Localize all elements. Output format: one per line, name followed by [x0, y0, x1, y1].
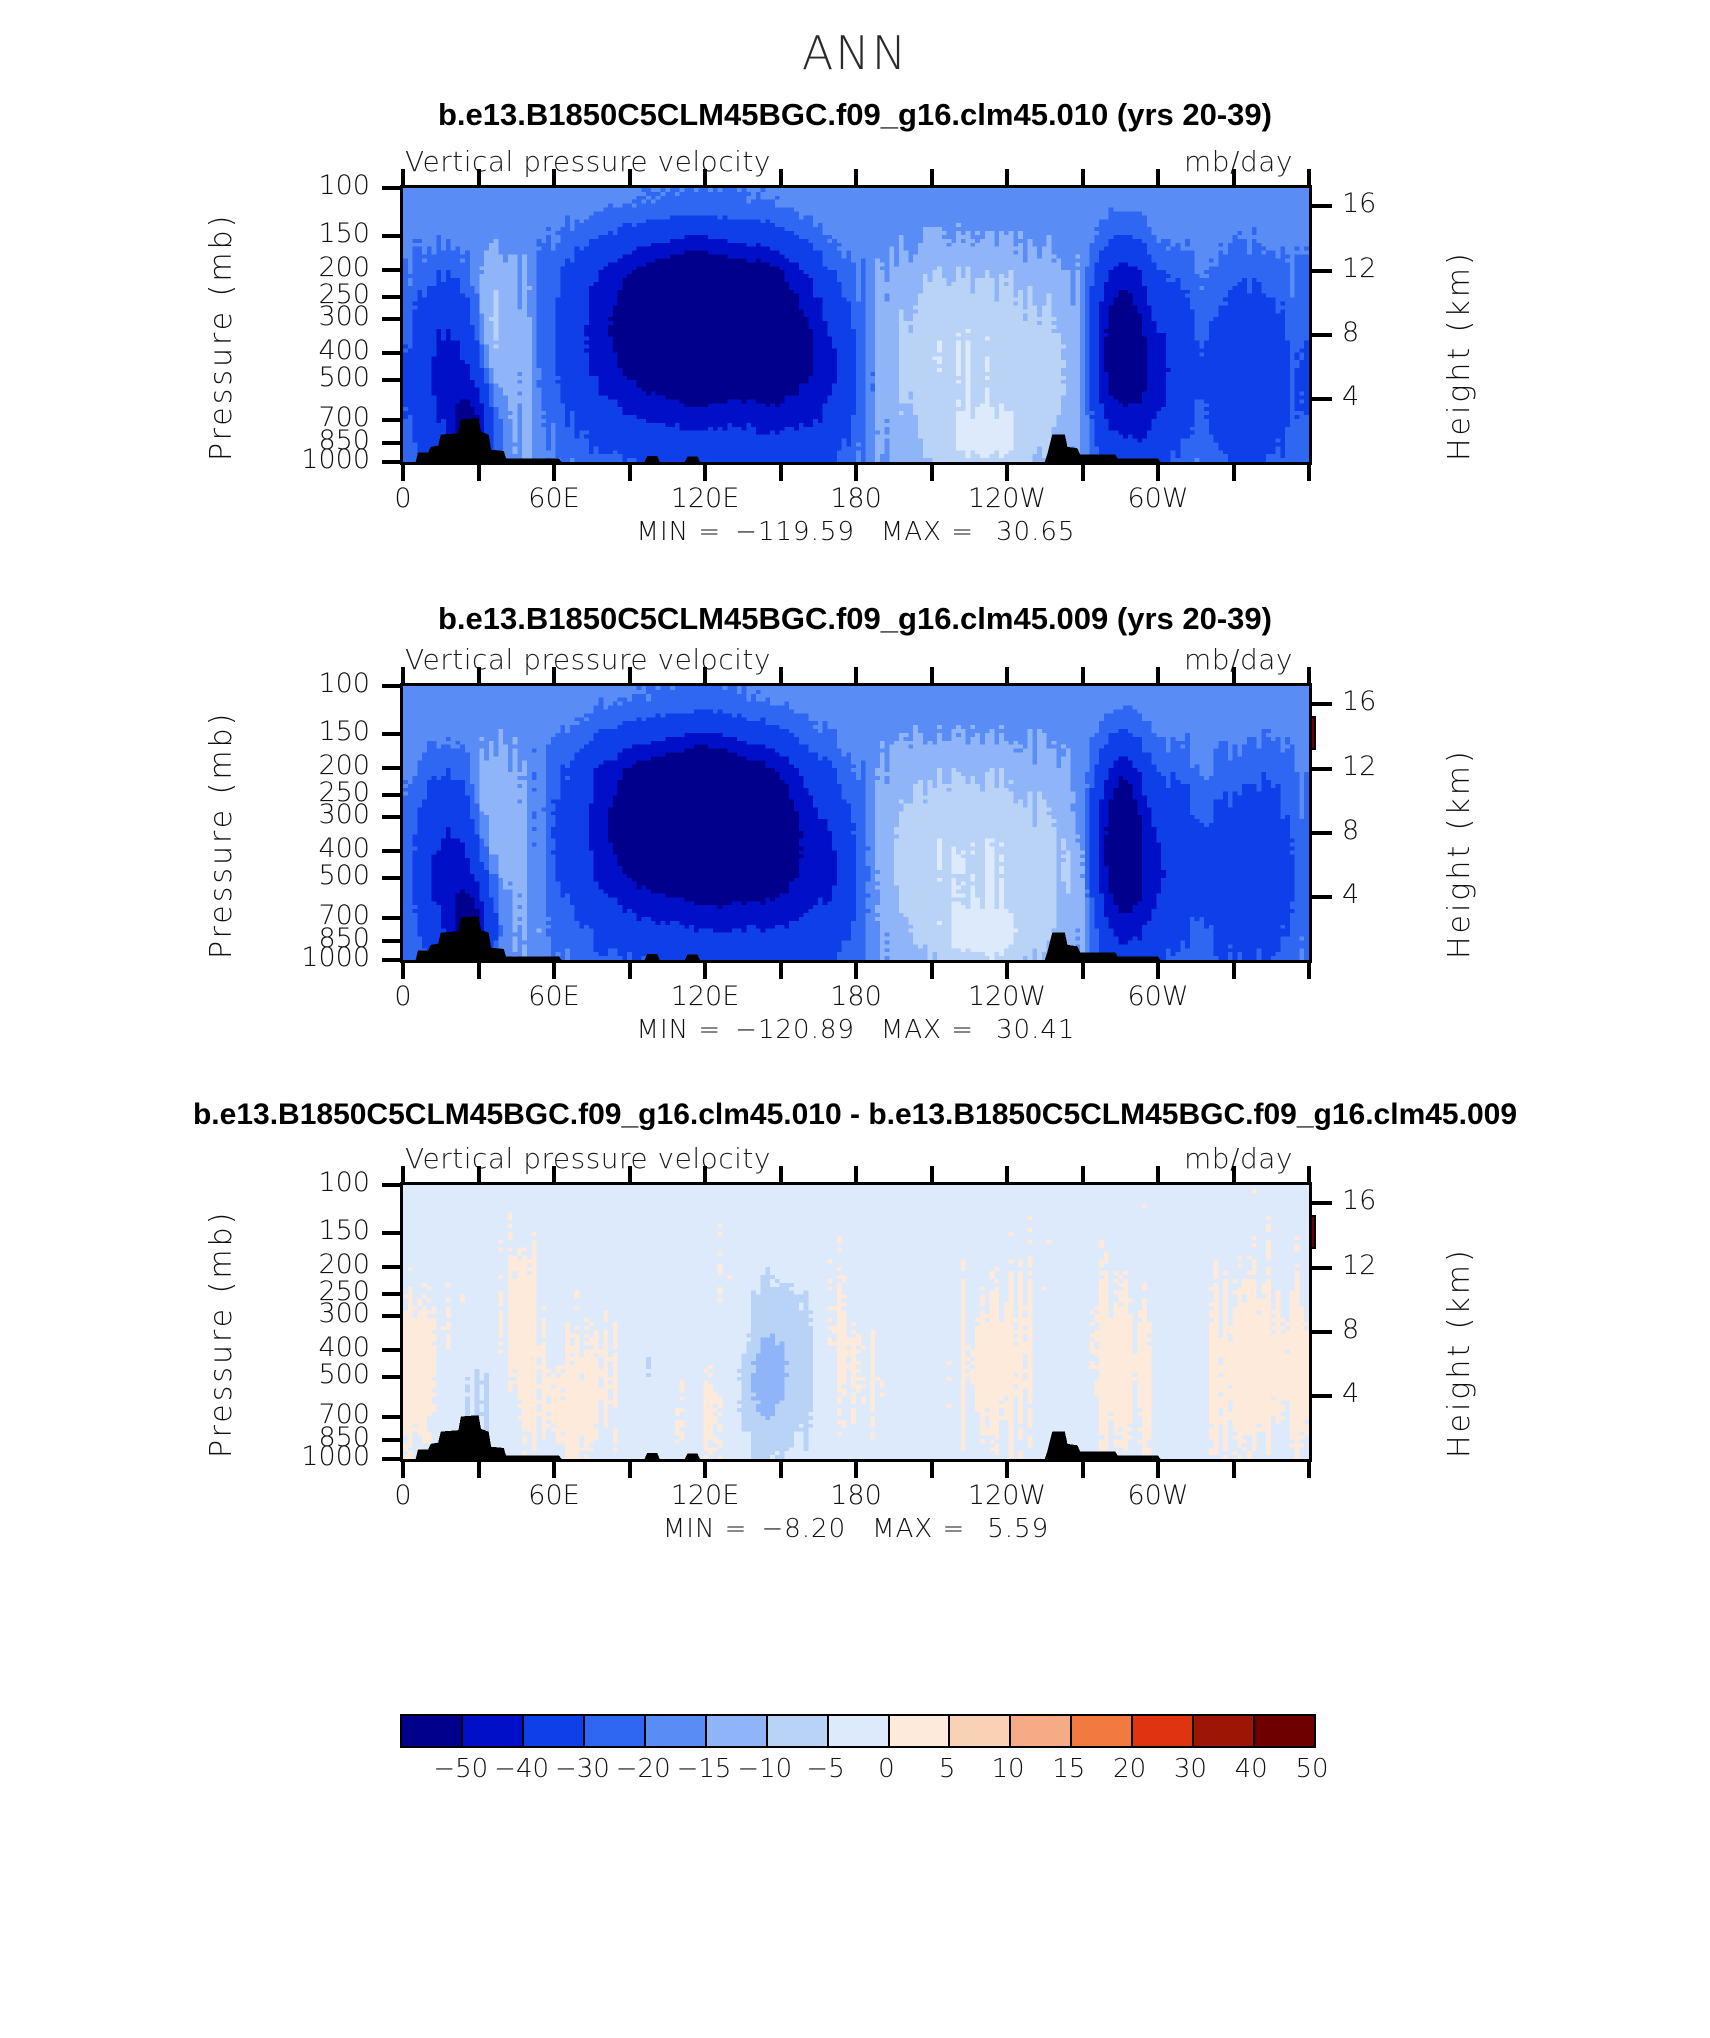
min-label: MIN =	[637, 517, 722, 547]
panel-2-pressure-tick	[382, 876, 400, 880]
panel-3-pressure-tick-label: 500	[240, 1359, 370, 1390]
panel-2-title: b.e13.B1850C5CLM45BGC.f09_g16.clm45.009 …	[0, 601, 1710, 637]
panel-2-height-tick	[1312, 831, 1332, 835]
panel-3-pressure-tick	[382, 1292, 400, 1296]
colorbar-segment	[1011, 1716, 1072, 1746]
panel-2-longitude-tick	[854, 963, 858, 979]
panel-3-longitude-tick	[779, 1462, 783, 1478]
panel-2-longitude-tick	[552, 963, 556, 979]
colorbar-segment	[463, 1716, 524, 1746]
panel-1-longitude-tick	[552, 465, 556, 481]
panel-2-longitude-tick	[854, 667, 858, 683]
panel-2-pressure-tick-label: 150	[240, 716, 370, 747]
panel-2-pressure-tick	[382, 766, 400, 770]
panel-1-pressure-tick	[382, 295, 400, 299]
panel-1-longitude-tick	[477, 465, 481, 481]
colorbar-tick-label: 50	[1242, 1754, 1382, 1784]
panel-3-title: b.e13.B1850C5CLM45BGC.f09_g16.clm45.010 …	[0, 1098, 1710, 1132]
panel-2-longitude-tick	[1232, 667, 1236, 683]
panel-1-height-tick	[1312, 269, 1332, 273]
panel-2-pressure-axis-title: Pressure (mb)	[204, 711, 239, 959]
panel-3-longitude-tick	[1307, 1462, 1311, 1478]
panel-1-longitude-tick	[779, 465, 783, 481]
panel-3-longitude-tick	[703, 1462, 707, 1478]
panel-1-pressure-tick	[382, 234, 400, 238]
colorbar-segment	[524, 1716, 585, 1746]
panel-2-longitude-tick	[703, 963, 707, 979]
panel-3-height-tick-label: 16	[1342, 1185, 1422, 1216]
panel-3-height-tick	[1312, 1201, 1332, 1205]
panel-2-height-tick-label: 12	[1342, 751, 1422, 782]
panel-3-pressure-tick	[382, 1348, 400, 1352]
panel-3-pressure-tick-label: 1000	[240, 1441, 370, 1472]
colorbar-segment	[1194, 1716, 1255, 1746]
colorbar-segment	[1133, 1716, 1194, 1746]
panel-3-longitude-tick-label: 60E	[479, 1480, 629, 1511]
panel-2-height-tick	[1312, 767, 1332, 771]
panel-1-longitude-tick-label: 0	[328, 483, 478, 514]
max-value: 30.65	[996, 517, 1075, 547]
panel-3-longitude-tick	[930, 1166, 934, 1182]
panel-2-longitude-tick-label: 120E	[630, 981, 780, 1012]
panel-1-height-tick-label: 16	[1342, 188, 1422, 219]
panel-1-longitude-tick	[1005, 169, 1009, 185]
panel-2-longitude-tick	[779, 963, 783, 979]
colorbar-segment	[1255, 1716, 1314, 1746]
panel-3-longitude-tick	[401, 1166, 405, 1182]
panel-3-pressure-tick	[382, 1314, 400, 1318]
panel-2-pressure-tick-label: 100	[240, 668, 370, 699]
panel-1-longitude-tick	[703, 169, 707, 185]
panel-1-longitude-tick	[401, 169, 405, 185]
panel-1-longitude-tick	[1156, 169, 1160, 185]
panel-3-longitude-tick-label: 0	[328, 1480, 478, 1511]
panel-2-longitude-tick	[1156, 667, 1160, 683]
panel-3-height-axis-title: Height (km)	[1442, 1247, 1477, 1458]
panel-3-longitude-tick	[779, 1166, 783, 1182]
max-value: 5.59	[987, 1514, 1049, 1544]
panel-1-pressure-tick	[382, 186, 400, 190]
panel-1-longitude-tick	[930, 169, 934, 185]
panel-1-unit-label: mb/day	[1184, 145, 1293, 178]
panel-2-longitude-tick	[1156, 963, 1160, 979]
panel-2-variable-label: Vertical pressure velocity	[405, 643, 771, 676]
colorbar-segment	[890, 1716, 951, 1746]
panel-1-pressure-tick-label: 100	[240, 170, 370, 201]
panel-1-height-tick-label: 4	[1342, 381, 1422, 412]
panel-3-pressure-tick	[382, 1415, 400, 1419]
panel-2-pressure-tick	[382, 849, 400, 853]
panel-1-height-axis-title: Height (km)	[1442, 250, 1477, 461]
panel-3-longitude-tick	[1005, 1166, 1009, 1182]
panel-1-pressure-axis-title: Pressure (mb)	[204, 213, 239, 461]
panel-1-pressure-tick	[382, 418, 400, 422]
panel-1-longitude-tick-label: 60W	[1083, 483, 1233, 514]
panel-2-longitude-tick	[1081, 667, 1085, 683]
panel-3-longitude-tick	[930, 1462, 934, 1478]
panel-1-longitude-tick	[854, 169, 858, 185]
panel-3-pressure-tick	[382, 1265, 400, 1269]
panel-2-height-tick-label: 4	[1342, 879, 1422, 910]
panel-2-longitude-tick	[477, 667, 481, 683]
panel-1-longitude-tick	[628, 465, 632, 481]
panel-3-plot-area	[400, 1182, 1312, 1462]
panel-2-longitude-tick	[1005, 963, 1009, 979]
panel-2-longitude-tick-label: 60W	[1083, 981, 1233, 1012]
panel-2-longitude-tick	[628, 667, 632, 683]
panel-3-longitude-tick	[1156, 1166, 1160, 1182]
panel-2-unit-label: mb/day	[1184, 643, 1293, 676]
panel-1-pressure-tick	[382, 378, 400, 382]
panel-2-pressure-tick-label: 1000	[240, 942, 370, 973]
panel-2-pressure-tick	[382, 732, 400, 736]
colorbar-segment	[402, 1716, 463, 1746]
max-label: MAX =	[872, 1514, 965, 1544]
panel-2-longitude-tick	[1005, 667, 1009, 683]
panel-1-longitude-tick-label: 120W	[932, 483, 1082, 514]
panel-1-height-tick-label: 12	[1342, 253, 1422, 284]
panel-3-longitude-tick	[703, 1166, 707, 1182]
panel-1-longitude-tick	[1081, 169, 1085, 185]
panel-3-height-tick-label: 12	[1342, 1250, 1422, 1281]
min-value: −8.20	[761, 1514, 846, 1544]
panel-3-pressure-tick-label: 100	[240, 1167, 370, 1198]
panel-3-longitude-tick-label: 180	[781, 1480, 931, 1511]
panel-1-longitude-tick	[401, 465, 405, 481]
panel-3-pressure-axis-title: Pressure (mb)	[204, 1210, 239, 1458]
panel-1-pressure-tick-label: 1000	[240, 444, 370, 475]
panel-1-height-tick-label: 8	[1342, 317, 1422, 348]
panel-3-longitude-tick	[552, 1462, 556, 1478]
panel-3-colorbar[interactable]	[400, 1714, 1316, 1748]
panel-2-pressure-tick	[382, 815, 400, 819]
panel-2-longitude-tick-label: 180	[781, 981, 931, 1012]
panel-3-height-tick-label: 8	[1342, 1314, 1422, 1345]
panel-3-longitude-tick	[628, 1462, 632, 1478]
panel-1-height-tick	[1312, 397, 1332, 401]
panel-2-longitude-tick	[552, 667, 556, 683]
panel-2-longitude-tick-label: 120W	[932, 981, 1082, 1012]
panel-1-height-tick	[1312, 204, 1332, 208]
panel-2-longitude-tick	[628, 963, 632, 979]
panel-2-height-tick	[1312, 895, 1332, 899]
panel-1-longitude-tick	[1005, 465, 1009, 481]
panel-2-pressure-tick	[382, 939, 400, 943]
panel-3-pressure-tick-label: 300	[240, 1298, 370, 1329]
panel-3-unit-label: mb/day	[1184, 1142, 1293, 1175]
panel-3-pressure-tick-label: 150	[240, 1215, 370, 1246]
panel-2-longitude-tick	[1307, 667, 1311, 683]
colorbar-segment	[646, 1716, 707, 1746]
panel-1-longitude-tick	[1232, 169, 1236, 185]
panel-2-longitude-tick	[703, 667, 707, 683]
panel-2-longitude-tick	[401, 667, 405, 683]
colorbar-segment	[707, 1716, 768, 1746]
panel-2-height-tick	[1312, 702, 1332, 706]
panel-2-pressure-tick	[382, 684, 400, 688]
panel-2-pressure-tick-label: 300	[240, 799, 370, 830]
panel-2-longitude-tick	[1081, 963, 1085, 979]
panel-3-longitude-tick-label: 120W	[932, 1480, 1082, 1511]
figure-super-title: ANN	[0, 26, 1710, 80]
panel-2-longitude-tick	[779, 667, 783, 683]
panel-3-pressure-tick	[382, 1457, 400, 1461]
colorbar-segment	[1072, 1716, 1133, 1746]
panel-3-longitude-tick-label: 120E	[630, 1480, 780, 1511]
colorbar-segment	[829, 1716, 890, 1746]
panel-1-longitude-tick	[552, 169, 556, 185]
panel-2-longitude-tick-label: 60E	[479, 981, 629, 1012]
panel-1-plot-area	[400, 185, 1312, 465]
panel-3-longitude-tick	[1156, 1462, 1160, 1478]
panel-2-height-tick-label: 8	[1342, 815, 1422, 846]
panel-3-longitude-tick	[1307, 1166, 1311, 1182]
panel-3-height-tick	[1312, 1394, 1332, 1398]
max-label: MAX =	[881, 517, 974, 547]
panel-2-plot-area	[400, 683, 1312, 963]
panel-3-longitude-tick	[1005, 1462, 1009, 1478]
panel-2-height-axis-title: Height (km)	[1442, 748, 1477, 959]
panel-1-longitude-tick	[1232, 465, 1236, 481]
panel-2-pressure-tick	[382, 916, 400, 920]
min-label: MIN =	[637, 1015, 722, 1045]
panel-1-pressure-tick-label: 150	[240, 218, 370, 249]
panel-2-longitude-tick	[1232, 963, 1236, 979]
panel-3-height-tick	[1312, 1330, 1332, 1334]
panel-1-longitude-tick	[703, 465, 707, 481]
panel-3-pressure-tick	[382, 1183, 400, 1187]
max-label: MAX =	[881, 1015, 974, 1045]
panel-1-pressure-tick	[382, 268, 400, 272]
panel-1-longitude-tick	[1307, 465, 1311, 481]
panel-3-pressure-tick	[382, 1231, 400, 1235]
panel-2-longitude-tick	[930, 667, 934, 683]
panel-1-longitude-tick	[930, 465, 934, 481]
panel-1-longitude-tick	[779, 169, 783, 185]
panel-3-longitude-tick	[401, 1462, 405, 1478]
panel-3-longitude-tick	[628, 1166, 632, 1182]
panel-2-longitude-tick	[1307, 963, 1311, 979]
panel-3-longitude-tick	[1232, 1166, 1236, 1182]
panel-1-pressure-tick	[382, 460, 400, 464]
panel-1-longitude-tick	[1307, 169, 1311, 185]
panel-2-minmax-line: MIN =−120.89MAX =30.41	[400, 1015, 1312, 1045]
panel-3-pressure-tick	[382, 1375, 400, 1379]
panel-3-variable-label: Vertical pressure velocity	[405, 1142, 771, 1175]
colorbar-segment	[585, 1716, 646, 1746]
panel-3-longitude-tick	[477, 1462, 481, 1478]
panel-1-longitude-tick	[854, 465, 858, 481]
panel-2-pressure-tick-label: 500	[240, 860, 370, 891]
panel-3-longitude-tick	[477, 1166, 481, 1182]
panel-3-minmax-line: MIN =−8.20MAX =5.59	[400, 1514, 1312, 1544]
panel-2-longitude-tick-label: 0	[328, 981, 478, 1012]
colorbar-segment	[768, 1716, 829, 1746]
panel-3-longitude-tick	[1232, 1462, 1236, 1478]
panel-3-longitude-tick	[1081, 1462, 1085, 1478]
panel-3-longitude-tick	[1081, 1166, 1085, 1182]
panel-3-longitude-tick-label: 60W	[1083, 1480, 1233, 1511]
panel-3-longitude-tick	[854, 1166, 858, 1182]
panel-2-pressure-tick	[382, 793, 400, 797]
panel-2-pressure-tick	[382, 958, 400, 962]
panel-1-longitude-tick	[1081, 465, 1085, 481]
panel-1-pressure-tick	[382, 441, 400, 445]
panel-3-longitude-tick	[552, 1166, 556, 1182]
panel-3-pressure-tick	[382, 1438, 400, 1442]
panel-2-longitude-tick	[401, 963, 405, 979]
min-value: −119.59	[735, 517, 855, 547]
panel-1-pressure-tick-label: 300	[240, 301, 370, 332]
panel-2-longitude-tick	[477, 963, 481, 979]
panel-2-height-tick-label: 16	[1342, 686, 1422, 717]
panel-2-longitude-tick	[930, 963, 934, 979]
panel-1-longitude-tick-label: 60E	[479, 483, 629, 514]
panel-1-longitude-tick-label: 120E	[630, 483, 780, 514]
panel-1-pressure-tick	[382, 351, 400, 355]
panel-1-longitude-tick	[628, 169, 632, 185]
panel-1-minmax-line: MIN =−119.59MAX =30.65	[400, 517, 1312, 547]
min-value: −120.89	[735, 1015, 855, 1045]
colorbar-segment	[950, 1716, 1011, 1746]
panel-1-longitude-tick	[1156, 465, 1160, 481]
panel-1-longitude-tick	[477, 169, 481, 185]
max-value: 30.41	[996, 1015, 1075, 1045]
panel-1-longitude-tick-label: 180	[781, 483, 931, 514]
panel-1-pressure-tick	[382, 317, 400, 321]
panel-1-pressure-tick-label: 500	[240, 362, 370, 393]
panel-1-height-tick	[1312, 333, 1332, 337]
panel-3-height-tick-label: 4	[1342, 1378, 1422, 1409]
panel-3-longitude-tick	[854, 1462, 858, 1478]
panel-1-title: b.e13.B1850C5CLM45BGC.f09_g16.clm45.010 …	[0, 97, 1710, 133]
panel-3-height-tick	[1312, 1266, 1332, 1270]
min-label: MIN =	[663, 1514, 748, 1544]
panel-1-variable-label: Vertical pressure velocity	[405, 145, 771, 178]
